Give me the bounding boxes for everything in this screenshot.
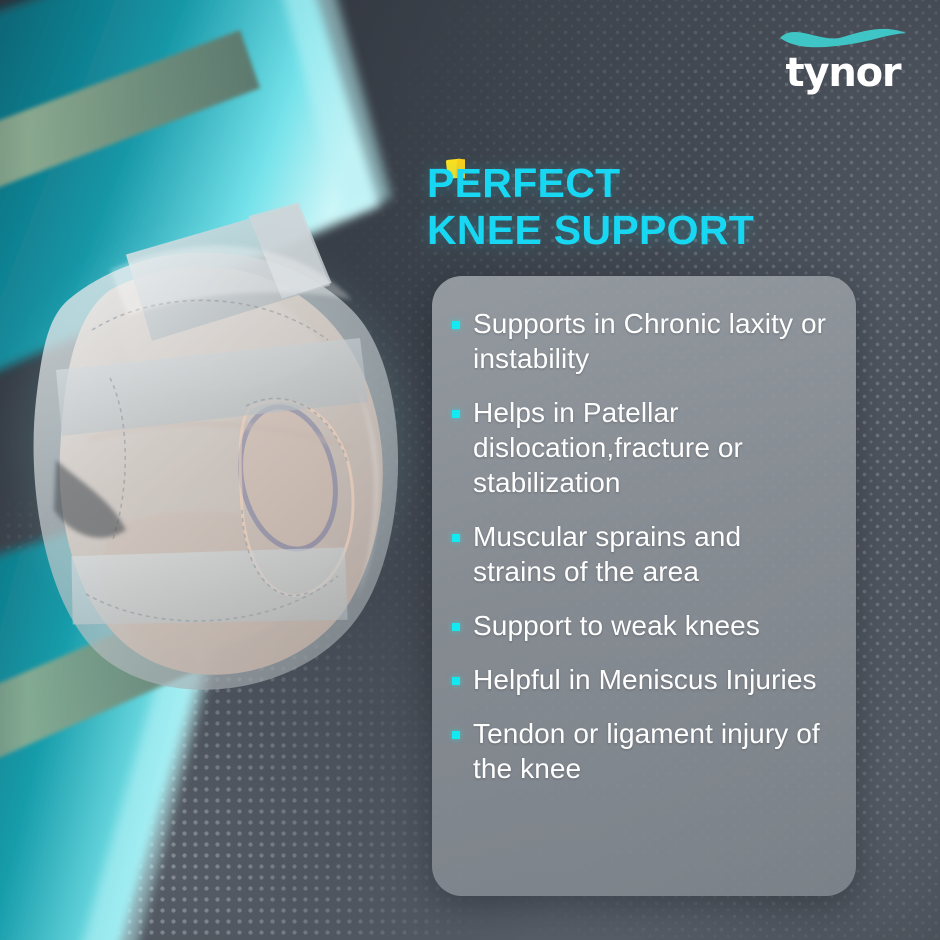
list-item: Support to weak knees	[452, 608, 830, 643]
page-title: PERFECT KNEE SUPPORT	[427, 160, 897, 254]
features-list: Supports in Chronic laxity or instabilit…	[452, 306, 830, 786]
list-item: Tendon or ligament injury of the knee	[452, 716, 830, 786]
promo-banner: tynor PERFECT KNEE	[0, 0, 940, 940]
list-item-label: Tendon or ligament injury of the knee	[473, 716, 830, 786]
brand-logo: tynor	[768, 24, 918, 102]
bullet-square-icon	[452, 534, 460, 542]
list-item-label: Muscular sprains and strains of the area	[473, 519, 830, 589]
list-item-label: Support to weak knees	[473, 608, 760, 643]
bullet-square-icon	[452, 677, 460, 685]
wave-icon	[777, 24, 909, 50]
bullet-square-icon	[452, 731, 460, 739]
brand-wordmark: tynor	[768, 51, 918, 95]
list-item: Supports in Chronic laxity or instabilit…	[452, 306, 830, 376]
list-item-label: Supports in Chronic laxity or instabilit…	[473, 306, 830, 376]
features-card: Supports in Chronic laxity or instabilit…	[432, 276, 856, 896]
list-item-label: Helps in Patellar dislocation,fracture o…	[473, 395, 830, 500]
bullet-square-icon	[452, 623, 460, 631]
list-item: Helpful in Meniscus Injuries	[452, 662, 830, 697]
list-item: Helps in Patellar dislocation,fracture o…	[452, 395, 830, 500]
list-item-label: Helpful in Meniscus Injuries	[473, 662, 817, 697]
title-line-2: KNEE SUPPORT	[427, 207, 897, 254]
title-line-1: PERFECT	[427, 160, 620, 206]
list-item: Muscular sprains and strains of the area	[452, 519, 830, 589]
bullet-square-icon	[452, 321, 460, 329]
bullet-square-icon	[452, 410, 460, 418]
